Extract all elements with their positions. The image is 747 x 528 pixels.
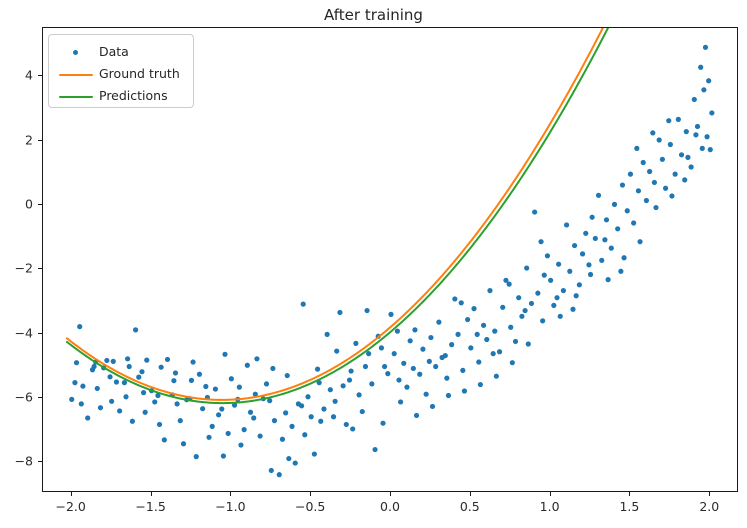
data-point xyxy=(596,193,601,198)
data-point xyxy=(590,215,595,220)
data-point xyxy=(328,387,333,392)
legend-item-data[interactable]: Data xyxy=(49,41,195,63)
data-point xyxy=(465,317,470,322)
data-point xyxy=(398,399,403,404)
line-icon xyxy=(59,96,93,98)
data-point xyxy=(258,433,263,438)
data-point xyxy=(459,300,464,305)
y-tick-label: 0 xyxy=(0,197,33,212)
data-point xyxy=(334,348,339,353)
y-tick-label: −4 xyxy=(0,325,33,340)
data-point xyxy=(219,406,224,411)
data-point xyxy=(481,323,486,328)
data-point xyxy=(125,356,130,361)
data-point xyxy=(650,130,655,135)
data-point xyxy=(136,375,141,380)
data-point xyxy=(484,337,489,342)
y-tick-label: −6 xyxy=(0,390,33,405)
data-point xyxy=(301,302,306,307)
data-point xyxy=(321,406,326,411)
x-tick-label: −1.0 xyxy=(215,499,245,514)
data-point xyxy=(620,182,625,187)
data-point xyxy=(602,237,607,242)
data-point xyxy=(353,341,358,346)
data-point xyxy=(189,378,194,383)
data-point xyxy=(372,447,377,452)
data-point xyxy=(190,359,195,364)
data-point xyxy=(588,272,593,277)
data-point xyxy=(157,422,162,427)
data-point xyxy=(471,306,476,311)
data-point xyxy=(171,378,176,383)
data-point xyxy=(685,155,690,160)
data-point xyxy=(538,239,543,244)
data-point xyxy=(487,288,492,293)
data-point xyxy=(117,408,122,413)
data-point xyxy=(130,419,135,424)
data-point xyxy=(133,327,138,332)
data-point xyxy=(248,410,253,415)
data-point xyxy=(312,451,317,456)
data-point xyxy=(237,385,242,390)
data-point xyxy=(91,364,96,369)
data-point xyxy=(647,169,652,174)
data-point xyxy=(570,307,575,312)
data-point xyxy=(436,320,441,325)
legend-dot-icon xyxy=(59,41,93,63)
data-point xyxy=(382,364,387,369)
data-point xyxy=(302,432,307,437)
legend-item-predictions[interactable]: Predictions xyxy=(49,85,195,107)
data-point xyxy=(178,418,183,423)
data-point xyxy=(615,226,620,231)
data-point xyxy=(669,193,674,198)
data-point xyxy=(139,369,144,374)
data-point xyxy=(452,296,457,301)
legend-item-ground-truth[interactable]: Ground truth xyxy=(49,63,195,85)
data-point xyxy=(637,239,642,244)
x-tick-label: 0.0 xyxy=(380,499,400,514)
data-point xyxy=(203,384,208,389)
data-point xyxy=(657,137,662,142)
data-point xyxy=(364,308,369,313)
data-point xyxy=(475,332,480,337)
data-point xyxy=(524,265,529,270)
data-point xyxy=(618,269,623,274)
data-point xyxy=(331,414,336,419)
data-point xyxy=(455,332,460,337)
x-tick-label: −2.0 xyxy=(56,499,86,514)
x-tick-label: 2.0 xyxy=(699,499,719,514)
data-point xyxy=(363,364,368,369)
data-point xyxy=(107,374,112,379)
legend-item-label: Ground truth xyxy=(99,66,180,81)
data-point xyxy=(350,426,355,431)
data-point xyxy=(701,87,706,92)
data-point xyxy=(127,364,132,369)
data-point xyxy=(242,427,247,432)
legend-item-label: Data xyxy=(99,44,129,59)
data-point xyxy=(689,164,694,169)
data-point xyxy=(95,386,100,391)
data-point xyxy=(532,209,537,214)
data-point xyxy=(162,437,167,442)
x-tick-label: −1.5 xyxy=(135,499,165,514)
data-point xyxy=(159,365,164,370)
data-point xyxy=(693,132,698,137)
data-point xyxy=(424,392,429,397)
data-point xyxy=(606,277,611,282)
data-point xyxy=(709,110,714,115)
data-point xyxy=(621,255,626,260)
data-point xyxy=(222,352,227,357)
data-point xyxy=(497,349,502,354)
data-point xyxy=(285,373,290,378)
data-point xyxy=(444,376,449,381)
data-point xyxy=(577,282,582,287)
data-point xyxy=(500,305,505,310)
data-point xyxy=(540,318,545,323)
data-point xyxy=(264,381,269,386)
data-point xyxy=(272,418,277,423)
data-point xyxy=(238,442,243,447)
data-point xyxy=(513,339,518,344)
x-tick-label: 1.5 xyxy=(619,499,639,514)
y-tick-label: −8 xyxy=(0,454,33,469)
data-point xyxy=(206,435,211,440)
data-point xyxy=(299,403,304,408)
data-point xyxy=(535,291,540,296)
data-point xyxy=(653,205,658,210)
data-point xyxy=(277,472,282,477)
data-point xyxy=(109,399,114,404)
data-point xyxy=(270,366,275,371)
data-point xyxy=(519,314,524,319)
data-point xyxy=(492,329,497,334)
data-point xyxy=(561,288,566,293)
data-point xyxy=(636,188,641,193)
data-point xyxy=(706,78,711,83)
data-point xyxy=(609,246,614,251)
data-point xyxy=(641,160,646,165)
data-point xyxy=(333,399,338,404)
data-point xyxy=(251,415,256,420)
data-point xyxy=(315,367,320,372)
x-tick-label: −0.5 xyxy=(295,499,325,514)
data-point xyxy=(286,456,291,461)
data-point xyxy=(200,406,205,411)
data-point xyxy=(666,118,671,123)
data-point xyxy=(673,172,678,177)
data-point xyxy=(631,220,636,225)
data-point xyxy=(341,383,346,388)
data-point xyxy=(703,45,708,50)
data-point xyxy=(74,360,79,365)
data-point xyxy=(280,437,285,442)
data-point xyxy=(72,380,77,385)
data-point xyxy=(395,329,400,334)
data-point xyxy=(229,376,234,381)
data-point xyxy=(401,361,406,366)
data-point xyxy=(165,357,170,362)
data-point xyxy=(491,351,496,356)
data-point xyxy=(526,341,531,346)
data-point xyxy=(567,269,572,274)
y-tick-label: 2 xyxy=(0,132,33,147)
data-point xyxy=(181,441,186,446)
data-point xyxy=(476,359,481,364)
data-point xyxy=(542,273,547,278)
data-point xyxy=(269,468,274,473)
data-point xyxy=(420,347,425,352)
data-point xyxy=(446,393,451,398)
data-point xyxy=(197,372,202,377)
data-point xyxy=(213,386,218,391)
data-point xyxy=(634,146,639,151)
data-point xyxy=(123,394,128,399)
data-point xyxy=(574,293,579,298)
data-point xyxy=(652,180,657,185)
data-point xyxy=(625,208,630,213)
dot-icon xyxy=(73,50,78,55)
data-point xyxy=(114,379,119,384)
data-point xyxy=(111,359,116,364)
data-point xyxy=(289,424,294,429)
data-point xyxy=(551,303,556,308)
data-point xyxy=(245,363,250,368)
line-icon xyxy=(59,74,93,76)
data-point xyxy=(698,65,703,70)
data-point xyxy=(283,410,288,415)
data-point xyxy=(293,460,298,465)
legend-item-label: Predictions xyxy=(99,88,168,103)
data-point xyxy=(408,338,413,343)
data-point xyxy=(174,401,179,406)
data-point xyxy=(558,314,563,319)
data-point xyxy=(708,147,713,152)
legend-line-icon xyxy=(59,85,93,107)
y-tick-label: −2 xyxy=(0,261,33,276)
data-point xyxy=(392,351,397,356)
data-point xyxy=(668,142,673,147)
data-point xyxy=(682,177,687,182)
x-tick-label: 1.0 xyxy=(540,499,560,514)
data-point xyxy=(644,198,649,203)
data-point xyxy=(510,360,515,365)
y-tick-label: 4 xyxy=(0,68,33,83)
data-point xyxy=(152,399,157,404)
data-point xyxy=(194,454,199,459)
data-point xyxy=(692,97,697,102)
data-point xyxy=(593,236,598,241)
data-point xyxy=(704,134,709,139)
data-point xyxy=(417,372,422,377)
data-point xyxy=(599,258,604,263)
data-point xyxy=(449,342,454,347)
page-title: After training xyxy=(0,6,747,24)
data-point xyxy=(604,217,609,222)
figure: After training 420−2−4−6−8−2.0−1.5−1.0−0… xyxy=(0,0,747,528)
data-point xyxy=(347,377,352,382)
data-point xyxy=(210,424,215,429)
x-tick-label: 0.5 xyxy=(460,499,480,514)
data-point xyxy=(309,414,314,419)
data-point xyxy=(254,356,259,361)
data-point xyxy=(216,412,221,417)
data-point xyxy=(388,312,393,317)
data-point xyxy=(676,117,681,122)
legend-line-icon xyxy=(59,63,93,85)
data-point xyxy=(508,325,513,330)
data-point xyxy=(356,392,361,397)
data-point xyxy=(428,335,433,340)
data-point xyxy=(695,124,700,129)
data-point xyxy=(586,262,591,267)
data-point xyxy=(507,282,512,287)
data-point xyxy=(337,310,342,315)
data-point xyxy=(700,146,705,151)
data-point xyxy=(141,390,146,395)
data-point xyxy=(433,364,438,369)
data-point xyxy=(564,222,569,227)
data-point xyxy=(430,404,435,409)
data-point xyxy=(385,371,390,376)
data-point xyxy=(396,377,401,382)
data-point xyxy=(85,415,90,420)
data-point xyxy=(545,253,550,258)
data-point xyxy=(79,401,84,406)
data-point xyxy=(462,388,467,393)
data-point xyxy=(468,345,473,350)
data-point xyxy=(143,410,148,415)
data-point xyxy=(529,301,534,306)
data-point xyxy=(443,353,448,358)
data-point xyxy=(679,152,684,157)
data-point xyxy=(348,368,353,373)
data-point xyxy=(69,397,74,402)
data-point xyxy=(414,413,419,418)
data-point xyxy=(516,295,521,300)
data-point xyxy=(522,308,527,313)
data-point xyxy=(684,129,689,134)
data-point xyxy=(173,370,178,375)
data-point xyxy=(305,394,310,399)
data-point xyxy=(612,202,617,207)
data-point xyxy=(221,453,226,458)
data-point xyxy=(412,327,417,332)
data-point xyxy=(379,345,384,350)
data-point xyxy=(494,374,499,379)
data-point xyxy=(663,186,668,191)
data-point xyxy=(404,385,409,390)
data-point xyxy=(226,431,231,436)
data-point xyxy=(344,422,349,427)
data-point xyxy=(122,380,127,385)
data-point xyxy=(554,295,559,300)
data-point xyxy=(366,351,371,356)
data-point xyxy=(380,421,385,426)
data-point xyxy=(318,419,323,424)
data-point xyxy=(411,366,416,371)
data-point xyxy=(144,358,149,363)
data-point xyxy=(580,251,585,256)
data-point xyxy=(548,278,553,283)
data-point xyxy=(360,409,365,414)
data-point xyxy=(369,381,374,386)
data-point xyxy=(325,332,330,337)
data-point xyxy=(98,405,103,410)
data-point xyxy=(104,358,109,363)
data-point xyxy=(556,262,561,267)
data-point xyxy=(583,231,588,236)
data-point xyxy=(460,368,465,373)
data-point xyxy=(660,157,665,162)
data-point xyxy=(478,382,483,387)
data-point xyxy=(77,324,82,329)
data-point xyxy=(572,243,577,248)
data-point xyxy=(80,384,85,389)
chart-legend: DataGround truthPredictions xyxy=(48,34,194,108)
data-point xyxy=(427,359,432,364)
data-point xyxy=(628,172,633,177)
data-point-group xyxy=(69,45,714,478)
